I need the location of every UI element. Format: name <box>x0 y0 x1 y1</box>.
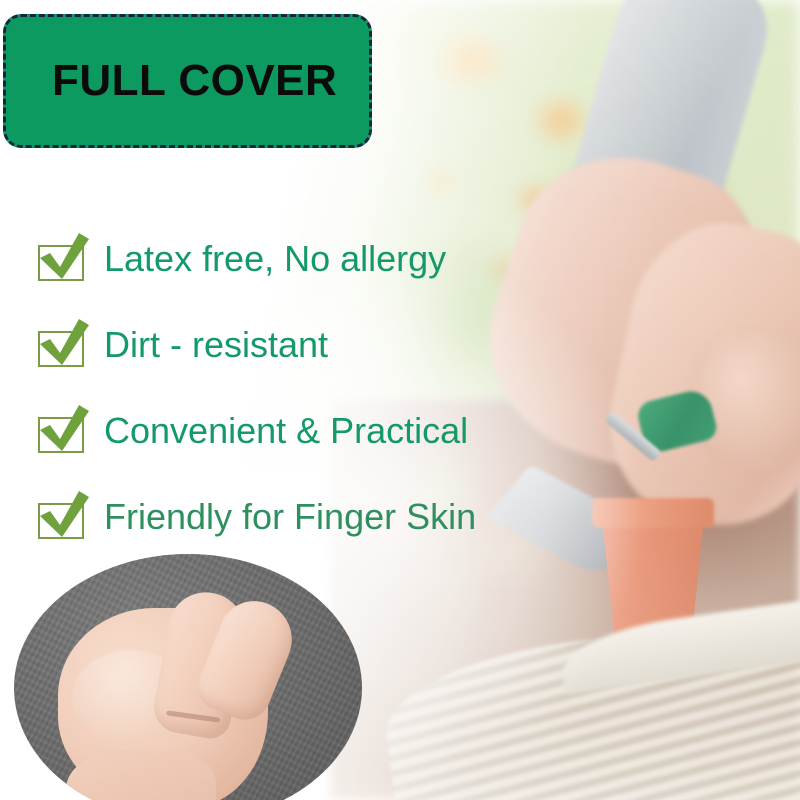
feature-item: Convenient & Practical <box>38 388 758 474</box>
feature-label: Latex free, No allergy <box>104 241 446 277</box>
banner-title: FULL COVER <box>52 59 337 103</box>
checkmark-box-icon <box>38 325 86 365</box>
wrist <box>66 750 216 800</box>
check-icon <box>34 489 94 545</box>
feature-item: Dirt - resistant <box>38 302 758 388</box>
check-icon <box>34 403 94 459</box>
feature-label: Convenient & Practical <box>104 413 468 449</box>
feature-item: Latex free, No allergy <box>38 216 758 302</box>
product-feature-graphic: FULL COVER Latex free, No allergy Dirt -… <box>0 0 800 800</box>
checkmark-box-icon <box>38 497 86 537</box>
check-icon <box>34 231 94 287</box>
feature-list: Latex free, No allergy Dirt - resistant … <box>38 216 758 560</box>
feature-label: Dirt - resistant <box>104 327 328 363</box>
full-cover-banner: FULL COVER <box>3 14 372 148</box>
feature-label: Friendly for Finger Skin <box>104 499 476 535</box>
checkmark-box-icon <box>38 239 86 279</box>
checkmark-box-icon <box>38 411 86 451</box>
feature-item: Friendly for Finger Skin <box>38 474 758 560</box>
check-icon <box>34 317 94 373</box>
